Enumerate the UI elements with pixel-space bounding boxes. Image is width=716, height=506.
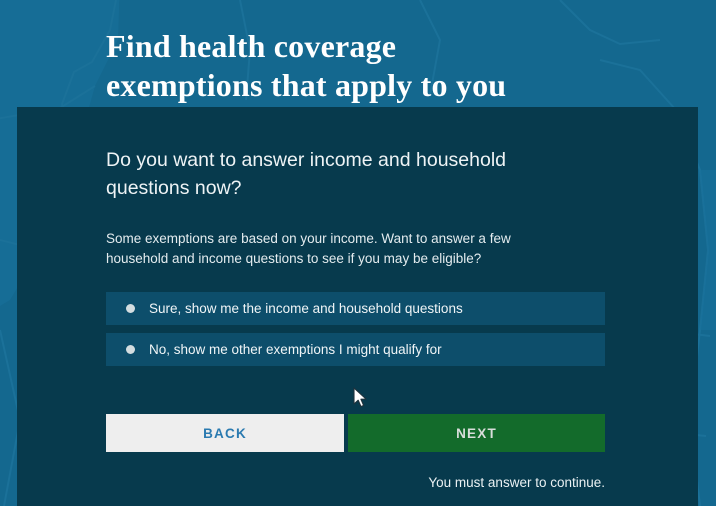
next-button[interactable]: NEXT xyxy=(348,414,605,452)
page-root: Find health coverage exemptions that app… xyxy=(0,0,716,506)
validation-message: You must answer to continue. xyxy=(106,475,605,490)
page-title: Find health coverage exemptions that app… xyxy=(106,27,646,105)
content-panel: Do you want to answer income and househo… xyxy=(17,107,698,506)
question-heading: Do you want to answer income and househo… xyxy=(106,146,566,202)
radio-option-no[interactable]: No, show me other exemptions I might qua… xyxy=(106,333,605,366)
radio-circle-icon[interactable] xyxy=(126,304,135,313)
question-description: Some exemptions are based on your income… xyxy=(106,229,576,268)
radio-option-label: No, show me other exemptions I might qua… xyxy=(149,343,442,357)
radio-option-label: Sure, show me the income and household q… xyxy=(149,302,463,316)
radio-circle-icon[interactable] xyxy=(126,345,135,354)
radio-group: Sure, show me the income and household q… xyxy=(106,292,605,366)
button-bar: BACK NEXT xyxy=(106,414,605,452)
radio-option-yes[interactable]: Sure, show me the income and household q… xyxy=(106,292,605,325)
back-button[interactable]: BACK xyxy=(106,414,344,452)
